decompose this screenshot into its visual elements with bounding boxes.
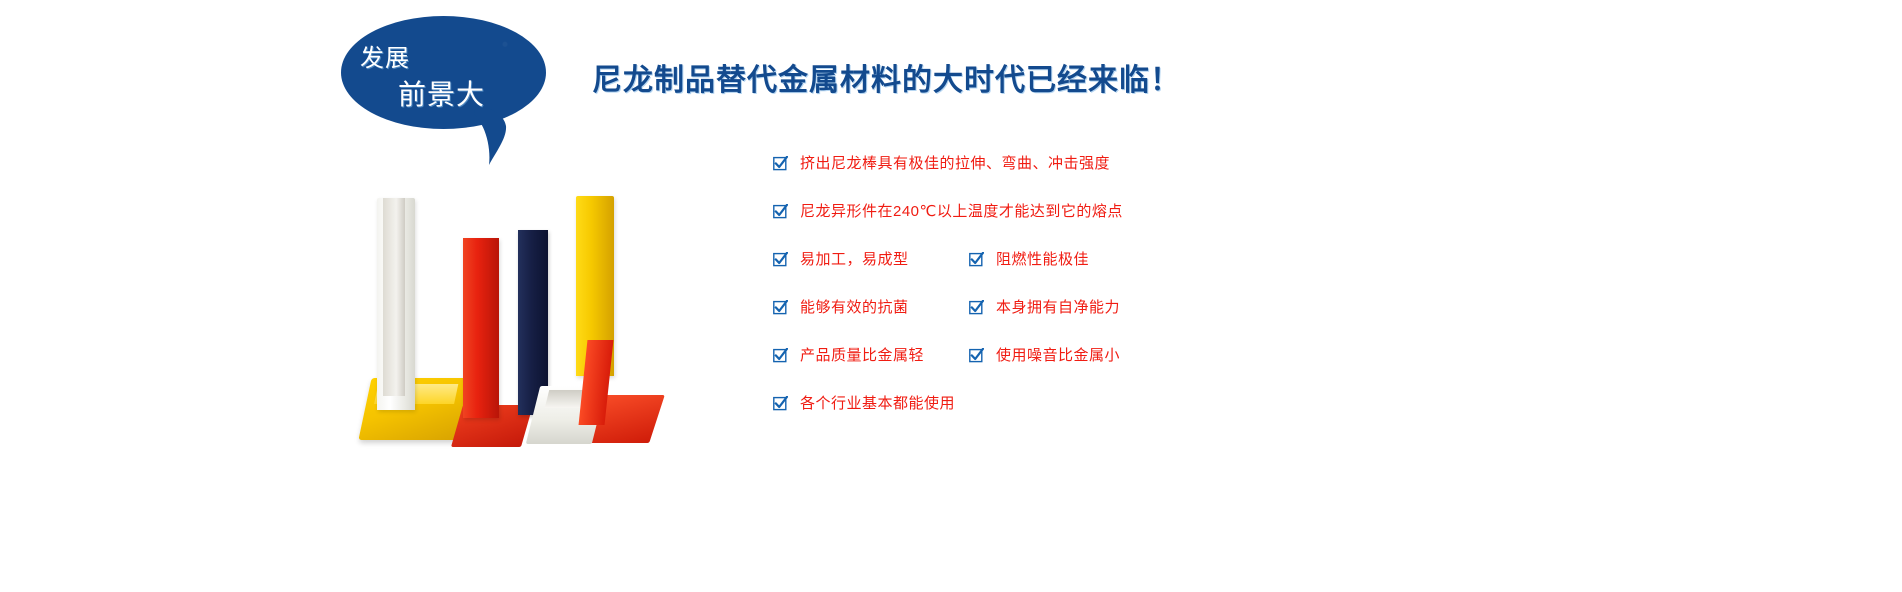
feature-text: 使用噪音比金属小 bbox=[996, 348, 1120, 363]
feature-item: 挤出尼龙棒具有极佳的拉伸、弯曲、冲击强度 bbox=[773, 156, 1110, 171]
feature-item: 产品质量比金属轻 bbox=[773, 348, 924, 363]
feature-text: 能够有效的抗菌 bbox=[800, 300, 909, 315]
feature-item: 本身拥有自净能力 bbox=[969, 300, 1120, 315]
bubble-line-1: 发展 bbox=[360, 38, 410, 73]
feature-text: 挤出尼龙棒具有极佳的拉伸、弯曲、冲击强度 bbox=[800, 156, 1110, 171]
white-tall-u-profile-shape bbox=[377, 198, 415, 410]
checkbox-check-icon bbox=[969, 300, 984, 315]
checkbox-check-icon bbox=[773, 252, 788, 267]
checkbox-check-icon bbox=[773, 156, 788, 171]
feature-row: 尼龙异形件在240℃以上温度才能达到它的熔点 bbox=[773, 204, 1393, 252]
feature-row: 各个行业基本都能使用 bbox=[773, 396, 1393, 444]
feature-text: 阻燃性能极佳 bbox=[996, 252, 1089, 267]
feature-row: 挤出尼龙棒具有极佳的拉伸、弯曲、冲击强度 bbox=[773, 156, 1393, 204]
feature-text: 本身拥有自净能力 bbox=[996, 300, 1120, 315]
feature-text: 易加工，易成型 bbox=[800, 252, 909, 267]
checkbox-check-icon bbox=[773, 300, 788, 315]
feature-item: 各个行业基本都能使用 bbox=[773, 396, 955, 411]
feature-item: 易加工，易成型 bbox=[773, 252, 909, 267]
feature-list: 挤出尼龙棒具有极佳的拉伸、弯曲、冲击强度 尼龙异形件在240℃以上温度才能达到它… bbox=[773, 156, 1393, 444]
checkbox-check-icon bbox=[773, 204, 788, 219]
headline-text: 尼龙制品替代金属材料的大时代已经来临！ bbox=[592, 55, 1181, 99]
feature-text: 尼龙异形件在240℃以上温度才能达到它的熔点 bbox=[800, 204, 1123, 219]
feature-item: 能够有效的抗菌 bbox=[773, 300, 909, 315]
feature-item: 使用噪音比金属小 bbox=[969, 348, 1120, 363]
feature-text: 产品质量比金属轻 bbox=[800, 348, 924, 363]
promo-banner: 发展 前景大 尼龙制品替代金属材料的大时代已经来临！ 挤出尼龙棒具有极佳的拉 bbox=[0, 0, 1902, 592]
product-photo bbox=[355, 190, 695, 460]
checkbox-check-icon bbox=[773, 348, 788, 363]
red-angle-profile-shape bbox=[463, 238, 499, 418]
checkbox-check-icon bbox=[969, 252, 984, 267]
feature-row: 能够有效的抗菌 本身拥有自净能力 bbox=[773, 300, 1393, 348]
speech-bubble-tail bbox=[474, 104, 508, 166]
bubble-line-2: 前景大 bbox=[398, 73, 485, 113]
feature-item: 尼龙异形件在240℃以上温度才能达到它的熔点 bbox=[773, 204, 1123, 219]
feature-row: 产品质量比金属轻 使用噪音比金属小 bbox=[773, 348, 1393, 396]
feature-item: 阻燃性能极佳 bbox=[969, 252, 1089, 267]
checkbox-check-icon bbox=[969, 348, 984, 363]
feature-text: 各个行业基本都能使用 bbox=[800, 396, 955, 411]
feature-row: 易加工，易成型 阻燃性能极佳 bbox=[773, 252, 1393, 300]
speech-bubble: 发展 前景大 bbox=[341, 16, 559, 166]
checkbox-check-icon bbox=[773, 396, 788, 411]
